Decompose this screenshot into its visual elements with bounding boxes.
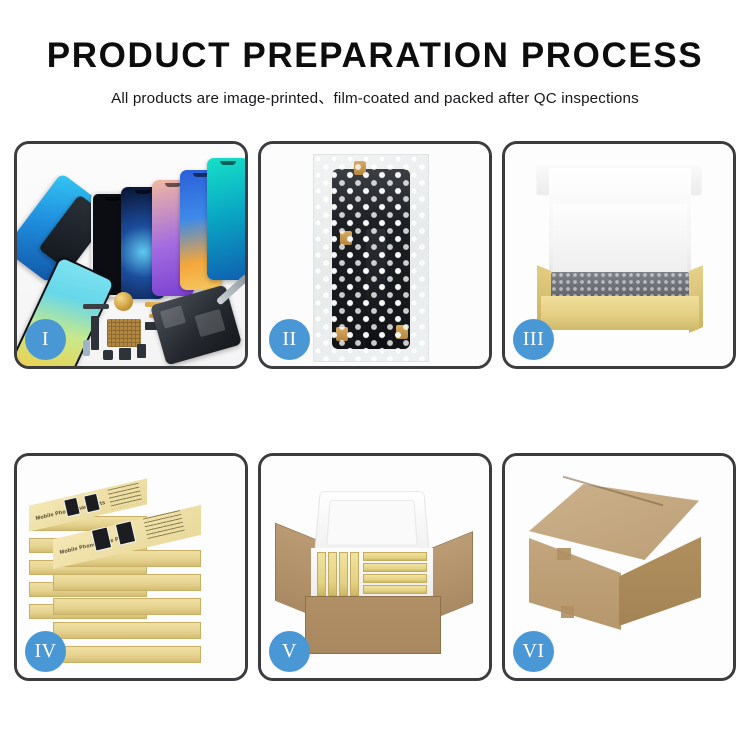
notch-icon bbox=[105, 197, 121, 201]
step-badge-6: VI bbox=[513, 631, 554, 672]
yellow-box-item bbox=[317, 552, 326, 596]
header: PRODUCT PREPARATION PROCESS All products… bbox=[0, 0, 750, 108]
flex-cable-part bbox=[91, 316, 99, 350]
stacked-box bbox=[53, 598, 201, 615]
camera-module-cutout bbox=[160, 305, 186, 328]
stacked-box bbox=[53, 622, 201, 639]
yellow-box-item bbox=[363, 552, 427, 561]
yellow-box-item bbox=[350, 552, 359, 596]
small-chip-part bbox=[83, 304, 109, 309]
carton-tape-lower bbox=[561, 606, 574, 618]
battery-cutout bbox=[194, 309, 225, 337]
carton-front-face bbox=[529, 538, 621, 630]
speaker-coin-part bbox=[114, 292, 133, 311]
carton-tape-upper bbox=[557, 548, 571, 560]
step-panel-1: I bbox=[14, 141, 248, 369]
connector-part bbox=[137, 344, 146, 358]
yellow-box-item bbox=[363, 574, 427, 583]
bubble-wrap-bag bbox=[313, 154, 429, 362]
yellow-box-item bbox=[363, 585, 427, 594]
yellow-box-item bbox=[339, 552, 348, 596]
step-panel-5: V bbox=[258, 453, 492, 681]
step-badge-4: IV bbox=[25, 631, 66, 672]
contact-grid-part bbox=[107, 319, 141, 347]
step-badge-3: III bbox=[513, 319, 554, 360]
step-panel-6: VI bbox=[502, 453, 736, 681]
page-title: PRODUCT PREPARATION PROCESS bbox=[0, 38, 750, 75]
carton-body bbox=[305, 596, 441, 654]
product-preparation-infographic: PRODUCT PREPARATION PROCESS All products… bbox=[0, 0, 750, 750]
step-panel-4: Mobile Phone Spare Parts Mobile Phone Sp… bbox=[14, 453, 248, 681]
stacked-box bbox=[53, 646, 201, 663]
phone-display-teal bbox=[207, 158, 245, 280]
notch-icon bbox=[165, 183, 181, 187]
page-subtitle: All products are image-printed、film-coat… bbox=[0, 86, 750, 108]
foam-lid bbox=[314, 491, 430, 556]
step-badge-2: II bbox=[269, 319, 310, 360]
notch-icon bbox=[135, 190, 151, 194]
bubble-texture-highlight bbox=[314, 155, 428, 361]
notch-icon bbox=[220, 161, 236, 165]
step-badge-5: V bbox=[269, 631, 310, 672]
step-badge-1: I bbox=[25, 319, 66, 360]
camera-part bbox=[119, 348, 131, 360]
yellow-box-item bbox=[328, 552, 337, 596]
yellow-box-item bbox=[363, 563, 427, 572]
process-steps-grid: I II bbox=[14, 141, 736, 681]
step-panel-2: II bbox=[258, 141, 492, 369]
box-front-wall bbox=[541, 296, 699, 330]
sim-tray-part bbox=[83, 340, 90, 356]
stacked-box bbox=[53, 574, 201, 591]
button-part bbox=[103, 350, 113, 360]
white-foam-sheet bbox=[553, 204, 687, 272]
step-panel-3: III bbox=[502, 141, 736, 369]
foam-lid-inset bbox=[326, 500, 417, 546]
